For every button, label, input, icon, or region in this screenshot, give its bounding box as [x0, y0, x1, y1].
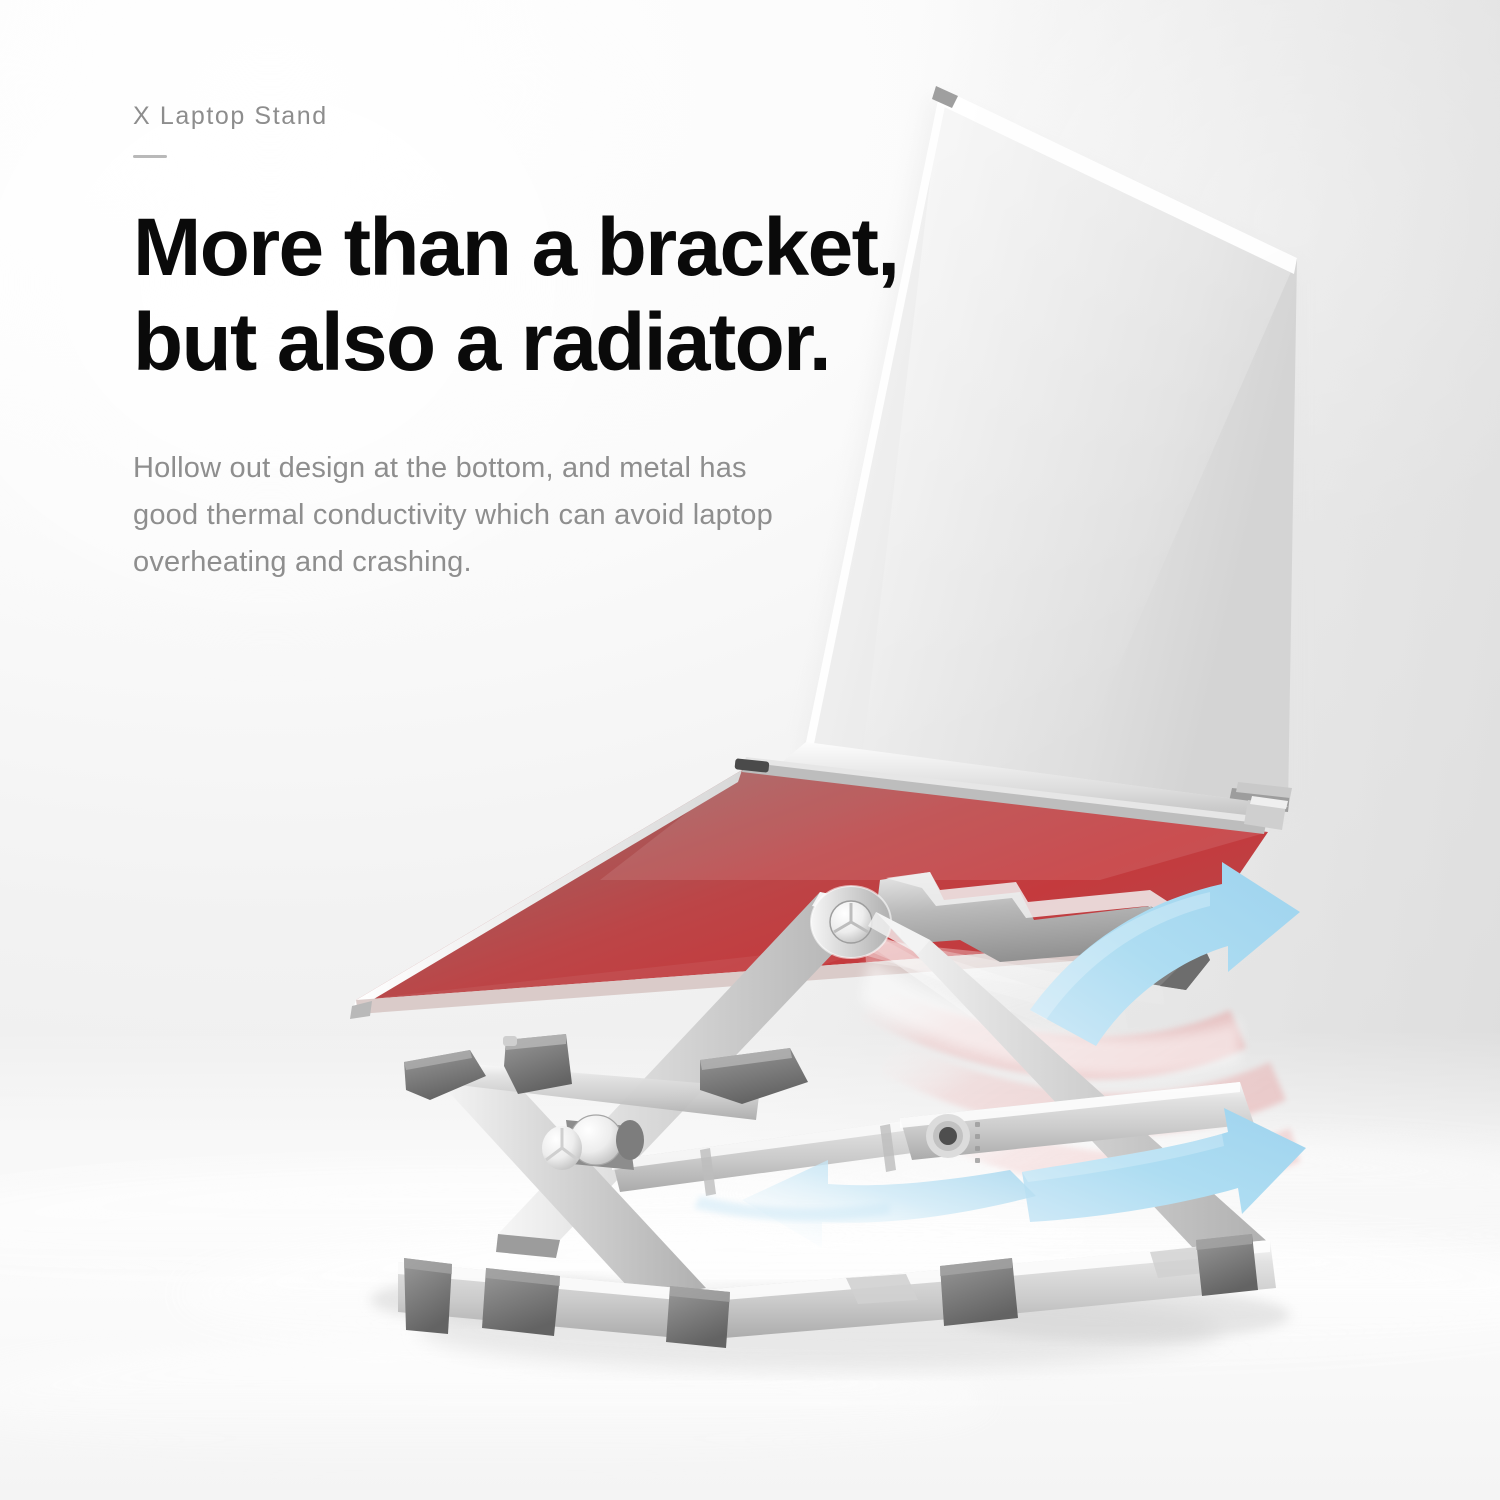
body-line-2: good thermal conductivity which can avoi…	[133, 492, 1033, 539]
stand-foot-far-right	[1196, 1234, 1258, 1296]
body-copy: Hollow out design at the bottom, and met…	[133, 445, 1033, 586]
hinge-screw	[939, 1127, 957, 1145]
stand-top-pivot-screw[interactable]	[830, 901, 872, 943]
copy-block: X Laptop Stand More than a bracket, but …	[133, 104, 1033, 615]
headline-line-1: More than a bracket,	[133, 202, 898, 293]
body-line-1: Hollow out design at the bottom, and met…	[133, 445, 1033, 492]
stand-foot-mid-left	[482, 1268, 560, 1336]
body-line-3: overheating and crashing.	[133, 539, 1033, 586]
stand-foot-left	[404, 1258, 452, 1334]
product-eyebrow: X Laptop Stand	[133, 104, 1033, 129]
stand-foot-mid-right	[666, 1286, 730, 1348]
stand-foot-right	[940, 1258, 1018, 1326]
headline-line-2: but also a radiator.	[133, 295, 1033, 390]
eyebrow-rule	[133, 155, 167, 158]
product-banner: X Laptop Stand More than a bracket, but …	[0, 0, 1500, 1500]
page-title: More than a bracket, but also a radiator…	[133, 200, 1033, 390]
stand-center-pivot[interactable]	[542, 1115, 644, 1170]
